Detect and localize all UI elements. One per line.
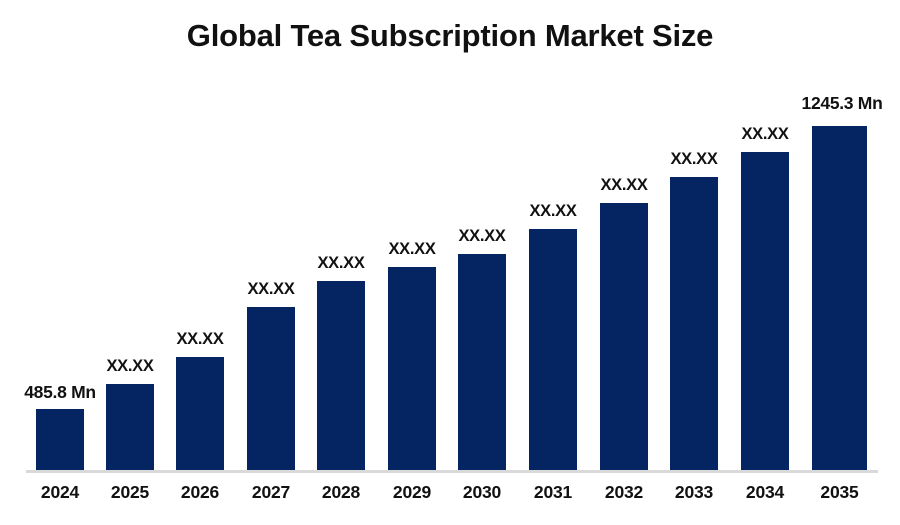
value-label-2034: XX.XX bbox=[735, 125, 795, 144]
value-label-2033: XX.XX bbox=[664, 150, 724, 169]
value-label-2027: XX.XX bbox=[241, 280, 301, 299]
category-label-2027: 2027 bbox=[236, 482, 306, 503]
value-label-2024: 485.8 Mn bbox=[8, 382, 112, 403]
category-label-2024: 2024 bbox=[25, 482, 95, 503]
category-label-2030: 2030 bbox=[447, 482, 517, 503]
bar-2033[interactable] bbox=[670, 177, 718, 470]
x-axis-baseline bbox=[26, 470, 878, 473]
plot-area: 485.8 MnXX.XXXX.XXXX.XXXX.XXXX.XXXX.XXXX… bbox=[0, 0, 900, 525]
category-label-2025: 2025 bbox=[95, 482, 165, 503]
value-label-2025: XX.XX bbox=[100, 357, 160, 376]
value-label-2026: XX.XX bbox=[170, 330, 230, 349]
value-label-2029: XX.XX bbox=[382, 240, 442, 259]
bar-2034[interactable] bbox=[741, 152, 789, 470]
bar-2028[interactable] bbox=[317, 281, 365, 470]
bar-2024[interactable] bbox=[36, 409, 84, 470]
value-label-2028: XX.XX bbox=[311, 254, 371, 273]
value-label-2035: 1245.3 Mn bbox=[784, 93, 900, 114]
value-label-2030: XX.XX bbox=[452, 227, 512, 246]
category-label-2028: 2028 bbox=[306, 482, 376, 503]
category-label-2026: 2026 bbox=[165, 482, 235, 503]
bar-2025[interactable] bbox=[106, 384, 154, 470]
category-label-2034: 2034 bbox=[730, 482, 800, 503]
value-label-2031: XX.XX bbox=[523, 202, 583, 221]
category-label-2029: 2029 bbox=[377, 482, 447, 503]
category-label-2035: 2035 bbox=[805, 482, 875, 503]
chart-container: Global Tea Subscription Market Size 485.… bbox=[0, 0, 900, 525]
bar-2030[interactable] bbox=[458, 254, 506, 470]
bar-2031[interactable] bbox=[529, 229, 577, 470]
bar-2029[interactable] bbox=[388, 267, 436, 470]
category-label-2032: 2032 bbox=[589, 482, 659, 503]
bar-2026[interactable] bbox=[176, 357, 224, 470]
bar-2032[interactable] bbox=[600, 203, 648, 470]
category-label-2031: 2031 bbox=[518, 482, 588, 503]
bar-2035[interactable] bbox=[812, 126, 867, 470]
category-label-2033: 2033 bbox=[659, 482, 729, 503]
bar-2027[interactable] bbox=[247, 307, 295, 470]
value-label-2032: XX.XX bbox=[594, 176, 654, 195]
